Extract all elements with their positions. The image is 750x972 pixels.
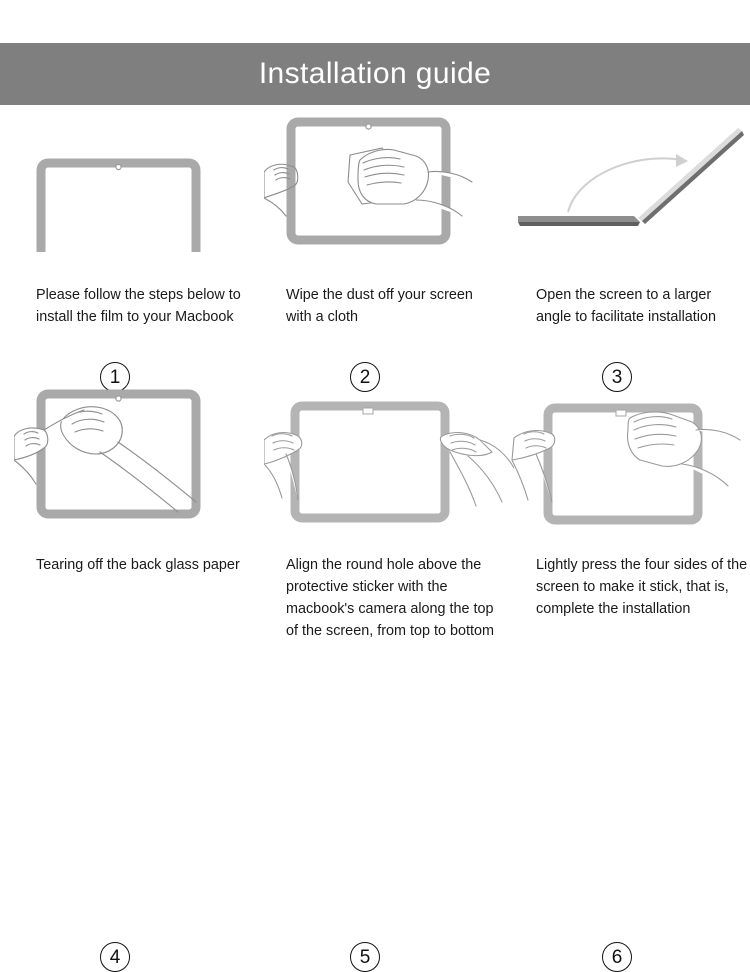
step-4: Tearing off the back glass paper 4 — [0, 386, 250, 676]
step-4-number: 4 — [100, 942, 130, 972]
page-title: Installation guide — [259, 59, 491, 89]
steps-grid: Please follow the steps below to install… — [0, 112, 750, 732]
step-3-illustration — [506, 112, 750, 252]
step-4-caption: Tearing off the back glass paper — [36, 554, 248, 576]
step-3: Open the screen to a larger angle to fac… — [500, 112, 750, 386]
installation-guide-page: Installation guide Please follo — [0, 0, 750, 750]
step-1-caption: Please follow the steps below to install… — [36, 284, 248, 328]
step-5-caption: Align the round hole above the protectiv… — [286, 554, 498, 642]
header-banner: Installation guide — [0, 43, 750, 105]
laptop-side-view-opening-icon — [506, 112, 750, 252]
step-2-caption: Wipe the dust off your screen with a clo… — [286, 284, 498, 328]
step-4-illustration — [14, 386, 264, 526]
step-2: Wipe the dust off your screen with a clo… — [250, 112, 500, 386]
hand-wiping-screen-with-cloth-icon — [264, 112, 514, 252]
step-6-illustration — [506, 386, 750, 526]
step-6: Lightly press the four sides of the scre… — [500, 386, 750, 676]
step-1-illustration — [14, 112, 264, 252]
step-1: Please follow the steps below to install… — [0, 112, 250, 386]
step-6-caption: Lightly press the four sides of the scre… — [536, 554, 748, 620]
step-3-caption: Open the screen to a larger angle to fac… — [536, 284, 748, 328]
hand-pressing-screen-edges-icon — [506, 386, 750, 526]
screen-with-peeling-film-icon — [14, 112, 264, 252]
step-5-number: 5 — [350, 942, 380, 972]
hand-peeling-back-paper-icon — [14, 386, 264, 526]
step-5-illustration — [264, 386, 514, 526]
step-6-number: 6 — [602, 942, 632, 972]
two-hands-aligning-film-icon — [264, 386, 514, 526]
step-2-illustration — [264, 112, 514, 252]
step-5: Align the round hole above the protectiv… — [250, 386, 500, 676]
